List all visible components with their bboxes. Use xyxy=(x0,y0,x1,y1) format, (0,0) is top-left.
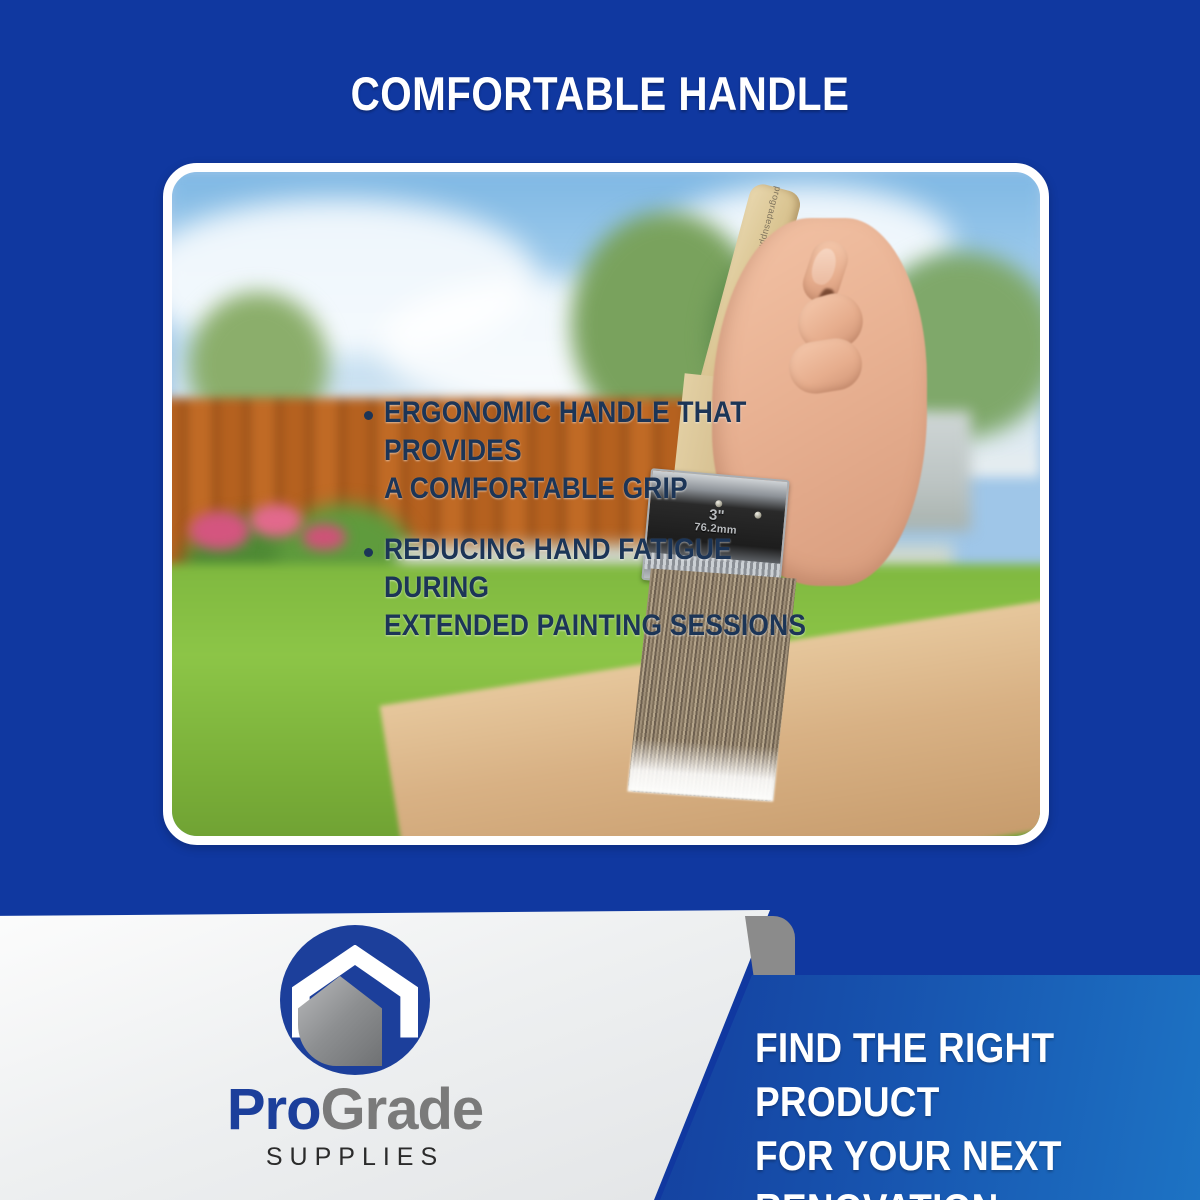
bullet-dot-icon xyxy=(364,548,373,557)
logo-word-secondary: Grade xyxy=(321,1077,484,1142)
product-photo-card: progradesupplies.com made in china xyxy=(163,163,1049,845)
flower-shape xyxy=(302,524,345,551)
middle-finger-shape xyxy=(786,334,866,396)
bullet-text: ERGONOMIC HANDLE THAT PROVIDES A COMFORT… xyxy=(384,394,824,507)
page-title: COMFORTABLE HANDLE xyxy=(84,66,1116,121)
cta-text: FIND THE RIGHT PRODUCT FOR YOUR NEXT REN… xyxy=(755,1021,1133,1200)
logo-word-primary: Pro xyxy=(227,1077,321,1142)
feature-bullet-list: ERGONOMIC HANDLE THAT PROVIDES A COMFORT… xyxy=(364,394,884,669)
bullet-text: REDUCING HAND FATIGUE DURING EXTENDED PA… xyxy=(384,531,824,644)
brand-logo: ProGrade SUPPLIES xyxy=(175,925,535,1172)
list-item: REDUCING HAND FATIGUE DURING EXTENDED PA… xyxy=(364,531,884,644)
flower-shape xyxy=(189,511,250,551)
logo-subtitle: SUPPLIES xyxy=(175,1143,535,1172)
marketing-banner: COMFORTABLE HANDLE xyxy=(0,0,1200,1200)
cta-panel: FIND THE RIGHT PRODUCT FOR YOUR NEXT REN… xyxy=(660,975,1200,1200)
list-item: ERGONOMIC HANDLE THAT PROVIDES A COMFORT… xyxy=(364,394,884,507)
logo-mark-icon xyxy=(280,925,430,1075)
logo-wordmark: ProGrade xyxy=(175,1081,535,1139)
bullet-dot-icon xyxy=(364,411,373,420)
